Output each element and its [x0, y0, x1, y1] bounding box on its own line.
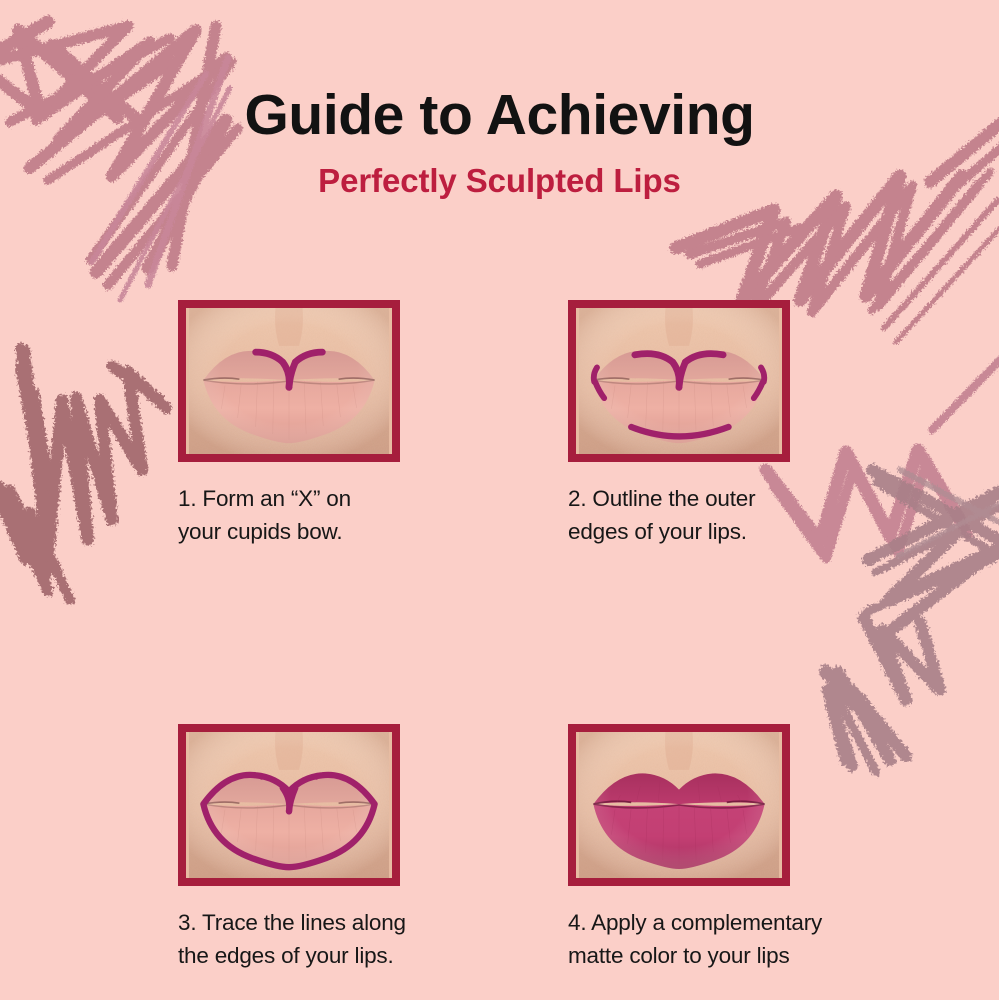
infographic-poster: Guide to Achieving Perfectly Sculpted Li…: [0, 0, 999, 1000]
step-4: 4. Apply a complementary matte color to …: [568, 724, 818, 973]
step-4-caption: 4. Apply a complementary matte color to …: [568, 907, 838, 973]
step-1: 1. Form an “X” on your cupids bow.: [178, 300, 400, 549]
step-1-caption: 1. Form an “X” on your cupids bow.: [178, 483, 400, 549]
lips-step-3-frame: [178, 724, 400, 886]
lips-step-1-frame: [178, 300, 400, 462]
page-subtitle: Perfectly Sculpted Lips: [0, 164, 999, 199]
steps-row-2: 3. Trace the lines along the edges of yo…: [178, 724, 803, 973]
lips-step-2-image: [576, 308, 782, 454]
lips-step-3-image: [186, 732, 392, 878]
step-2-caption: 2. Outline the outer edges of your lips.: [568, 483, 838, 549]
lips-step-2-frame: [568, 300, 790, 462]
page-title: Guide to Achieving: [0, 86, 999, 146]
step-2: 2. Outline the outer edges of your lips.: [568, 300, 818, 549]
lips-step-1-image: [186, 308, 392, 454]
lips-step-4-image: [576, 732, 782, 878]
steps-grid: 1. Form an “X” on your cupids bow.: [178, 300, 803, 972]
step-3-caption: 3. Trace the lines along the edges of yo…: [178, 907, 438, 973]
steps-row-1: 1. Form an “X” on your cupids bow.: [178, 300, 803, 549]
step-3: 3. Trace the lines along the edges of yo…: [178, 724, 400, 973]
poster-header: Guide to Achieving Perfectly Sculpted Li…: [0, 86, 999, 198]
lips-step-4-frame: [568, 724, 790, 886]
